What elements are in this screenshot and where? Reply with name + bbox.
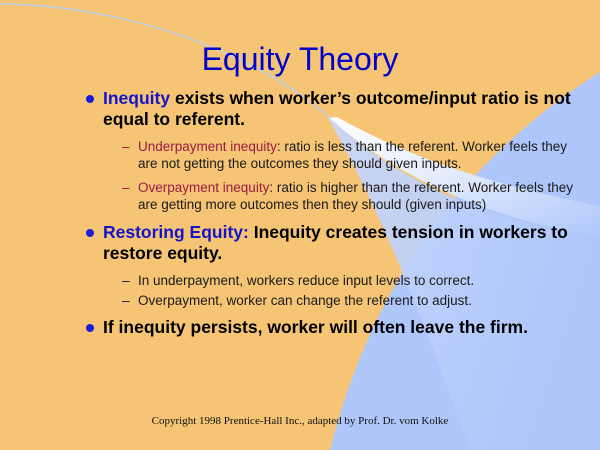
- list-item-label: Overpayment, worker can change the refer…: [138, 293, 472, 308]
- list-item-label: If inequity persists, worker will often …: [103, 317, 528, 337]
- list-item: Restoring Equity: Inequity creates tensi…: [86, 222, 586, 264]
- list-item: –Overpayment, worker can change the refe…: [122, 292, 586, 309]
- list-item-highlight: Inequity: [103, 88, 170, 108]
- dash-bullet-icon: –: [122, 292, 130, 309]
- slide-content: Equity Theory Inequity exists when worke…: [0, 0, 600, 450]
- round-bullet-icon: [86, 95, 94, 103]
- list-item: –Underpayment inequity: ratio is less th…: [122, 138, 586, 172]
- list-item-highlight: Overpayment inequity: [138, 180, 269, 195]
- list-item: Inequity exists when worker’s outcome/in…: [86, 88, 586, 130]
- page-title: Equity Theory: [0, 41, 600, 77]
- round-bullet-icon: [86, 324, 94, 332]
- list-item: If inequity persists, worker will often …: [86, 317, 586, 338]
- list-item-highlight: Underpayment inequity: [138, 139, 277, 154]
- bullet-list: Inequity exists when worker’s outcome/in…: [86, 88, 586, 339]
- dash-bullet-icon: –: [122, 272, 130, 289]
- copyright-footer: Copyright 1998 Prentice-Hall Inc., adapt…: [0, 414, 600, 428]
- round-bullet-icon: [86, 229, 94, 237]
- list-item-label: exists when worker’s outcome/input ratio…: [103, 88, 571, 129]
- slide-canvas: Equity Theory Inequity exists when worke…: [0, 0, 600, 450]
- list-item-label: In underpayment, workers reduce input le…: [138, 273, 474, 288]
- dash-bullet-icon: –: [122, 179, 130, 196]
- list-item: –In underpayment, workers reduce input l…: [122, 272, 586, 289]
- list-item: –Overpayment inequity: ratio is higher t…: [122, 179, 586, 213]
- list-item-highlight: Restoring Equity:: [103, 222, 249, 242]
- dash-bullet-icon: –: [122, 138, 130, 155]
